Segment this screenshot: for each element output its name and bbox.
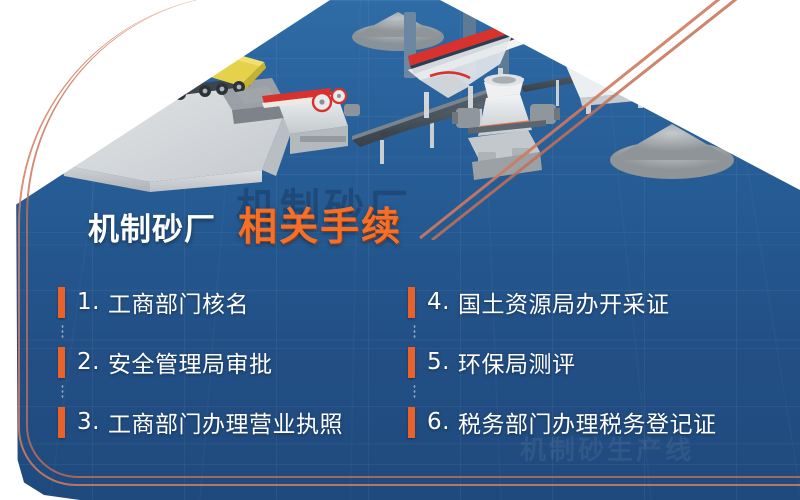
list-item[interactable]: 6. 税务部门办理税务登记证 <box>408 405 758 439</box>
list-item-label: 工商部门核名 <box>108 285 249 319</box>
orange-bar-marker <box>58 287 65 318</box>
list-item[interactable]: 5. 环保局测评 <box>408 345 758 379</box>
orange-bar-marker <box>408 407 415 438</box>
orange-bar-marker <box>408 347 415 378</box>
list-item-label: 国土资源局办开采证 <box>458 285 670 319</box>
dot-separator <box>61 324 64 340</box>
title-orange-part: 相关手续 <box>238 196 402 252</box>
list-item[interactable]: 1. 工商部门核名 <box>58 285 408 319</box>
list-item-index: 2. <box>77 349 100 375</box>
list-item[interactable]: 2. 安全管理局审批 <box>58 345 408 379</box>
list-item-index: 3. <box>77 409 100 435</box>
list-row: 2. 安全管理局审批 5. 环保局测评 <box>58 332 758 392</box>
list-item-label: 安全管理局审批 <box>108 345 273 379</box>
procedure-list: 1. 工商部门核名 4. 国土资源局办开采证 2. 安全管理局审批 5. 环保局… <box>58 272 758 452</box>
dot-separator <box>413 324 416 340</box>
orange-bar-marker <box>58 407 65 438</box>
list-row: 3. 工商部门办理营业执照 6. 税务部门办理税务登记证 <box>58 392 758 452</box>
list-item-index: 5. <box>427 349 450 375</box>
page-title: 机制砂厂 相关手续 <box>88 196 402 252</box>
list-item-index: 6. <box>427 409 450 435</box>
list-item-label: 环保局测评 <box>458 345 576 379</box>
orange-bar-marker <box>408 287 415 318</box>
dot-separator <box>61 384 64 400</box>
dot-separator <box>413 384 416 400</box>
list-item-label: 工商部门办理营业执照 <box>108 405 343 439</box>
list-item-index: 4. <box>427 289 450 315</box>
list-item-index: 1. <box>77 289 100 315</box>
list-item[interactable]: 3. 工商部门办理营业执照 <box>58 405 408 439</box>
banner-stage: 机制砂厂 机制砂生产线 机制砂厂 相关手续 1. 工商部门核名 4. 国土资源局… <box>0 0 800 500</box>
orange-bar-marker <box>58 347 65 378</box>
list-item[interactable]: 4. 国土资源局办开采证 <box>408 285 758 319</box>
list-item-label: 税务部门办理税务登记证 <box>458 405 717 439</box>
list-row: 1. 工商部门核名 4. 国土资源局办开采证 <box>58 272 758 332</box>
title-white-part: 机制砂厂 <box>88 204 216 249</box>
